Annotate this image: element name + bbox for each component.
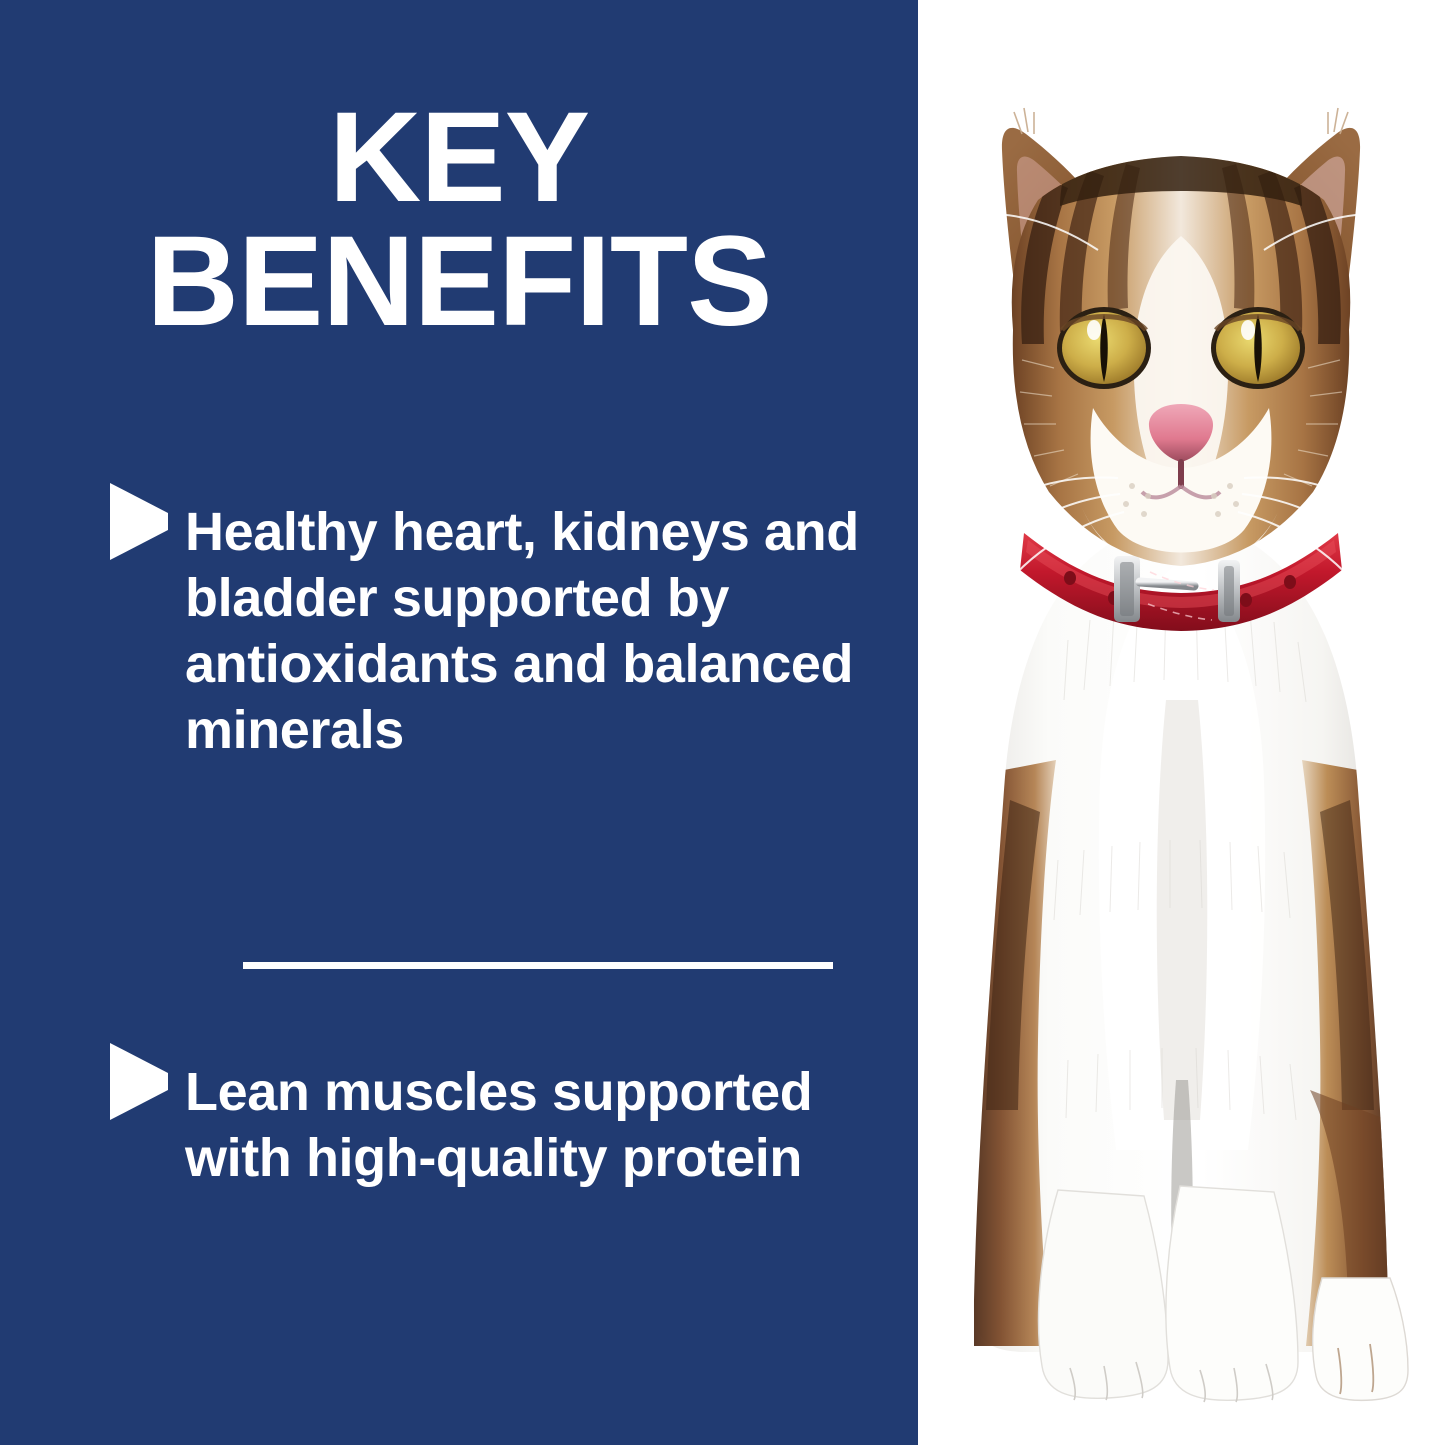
benefit-item-1: Healthy heart, kidneys and bladder suppo… — [110, 500, 900, 764]
benefits-list: Healthy heart, kidneys and bladder suppo… — [110, 500, 900, 764]
benefit-item-2-text: Lean muscles supported with high-quality… — [178, 1060, 900, 1192]
cat-illustration — [918, 0, 1445, 1445]
cat-ear-tufts — [1014, 108, 1348, 134]
key-benefits-panel: KEY BENEFITS Healthy heart, kidneys and … — [0, 0, 918, 1445]
cat-photo — [918, 0, 1445, 1445]
benefit-item-1-text: Healthy heart, kidneys and bladder suppo… — [178, 500, 900, 764]
benefit-item-2: Lean muscles supported with high-quality… — [110, 1060, 900, 1192]
triangle-right-icon — [110, 500, 178, 531]
page-title: KEY BENEFITS — [0, 96, 918, 344]
cat-head — [966, 108, 1396, 598]
product-benefits-graphic: KEY BENEFITS Healthy heart, kidneys and … — [0, 0, 1445, 1445]
benefits-divider — [243, 962, 833, 969]
triangle-right-icon — [110, 1060, 178, 1091]
cat-body — [971, 520, 1408, 1402]
benefits-list-2: Lean muscles supported with high-quality… — [110, 1060, 900, 1192]
